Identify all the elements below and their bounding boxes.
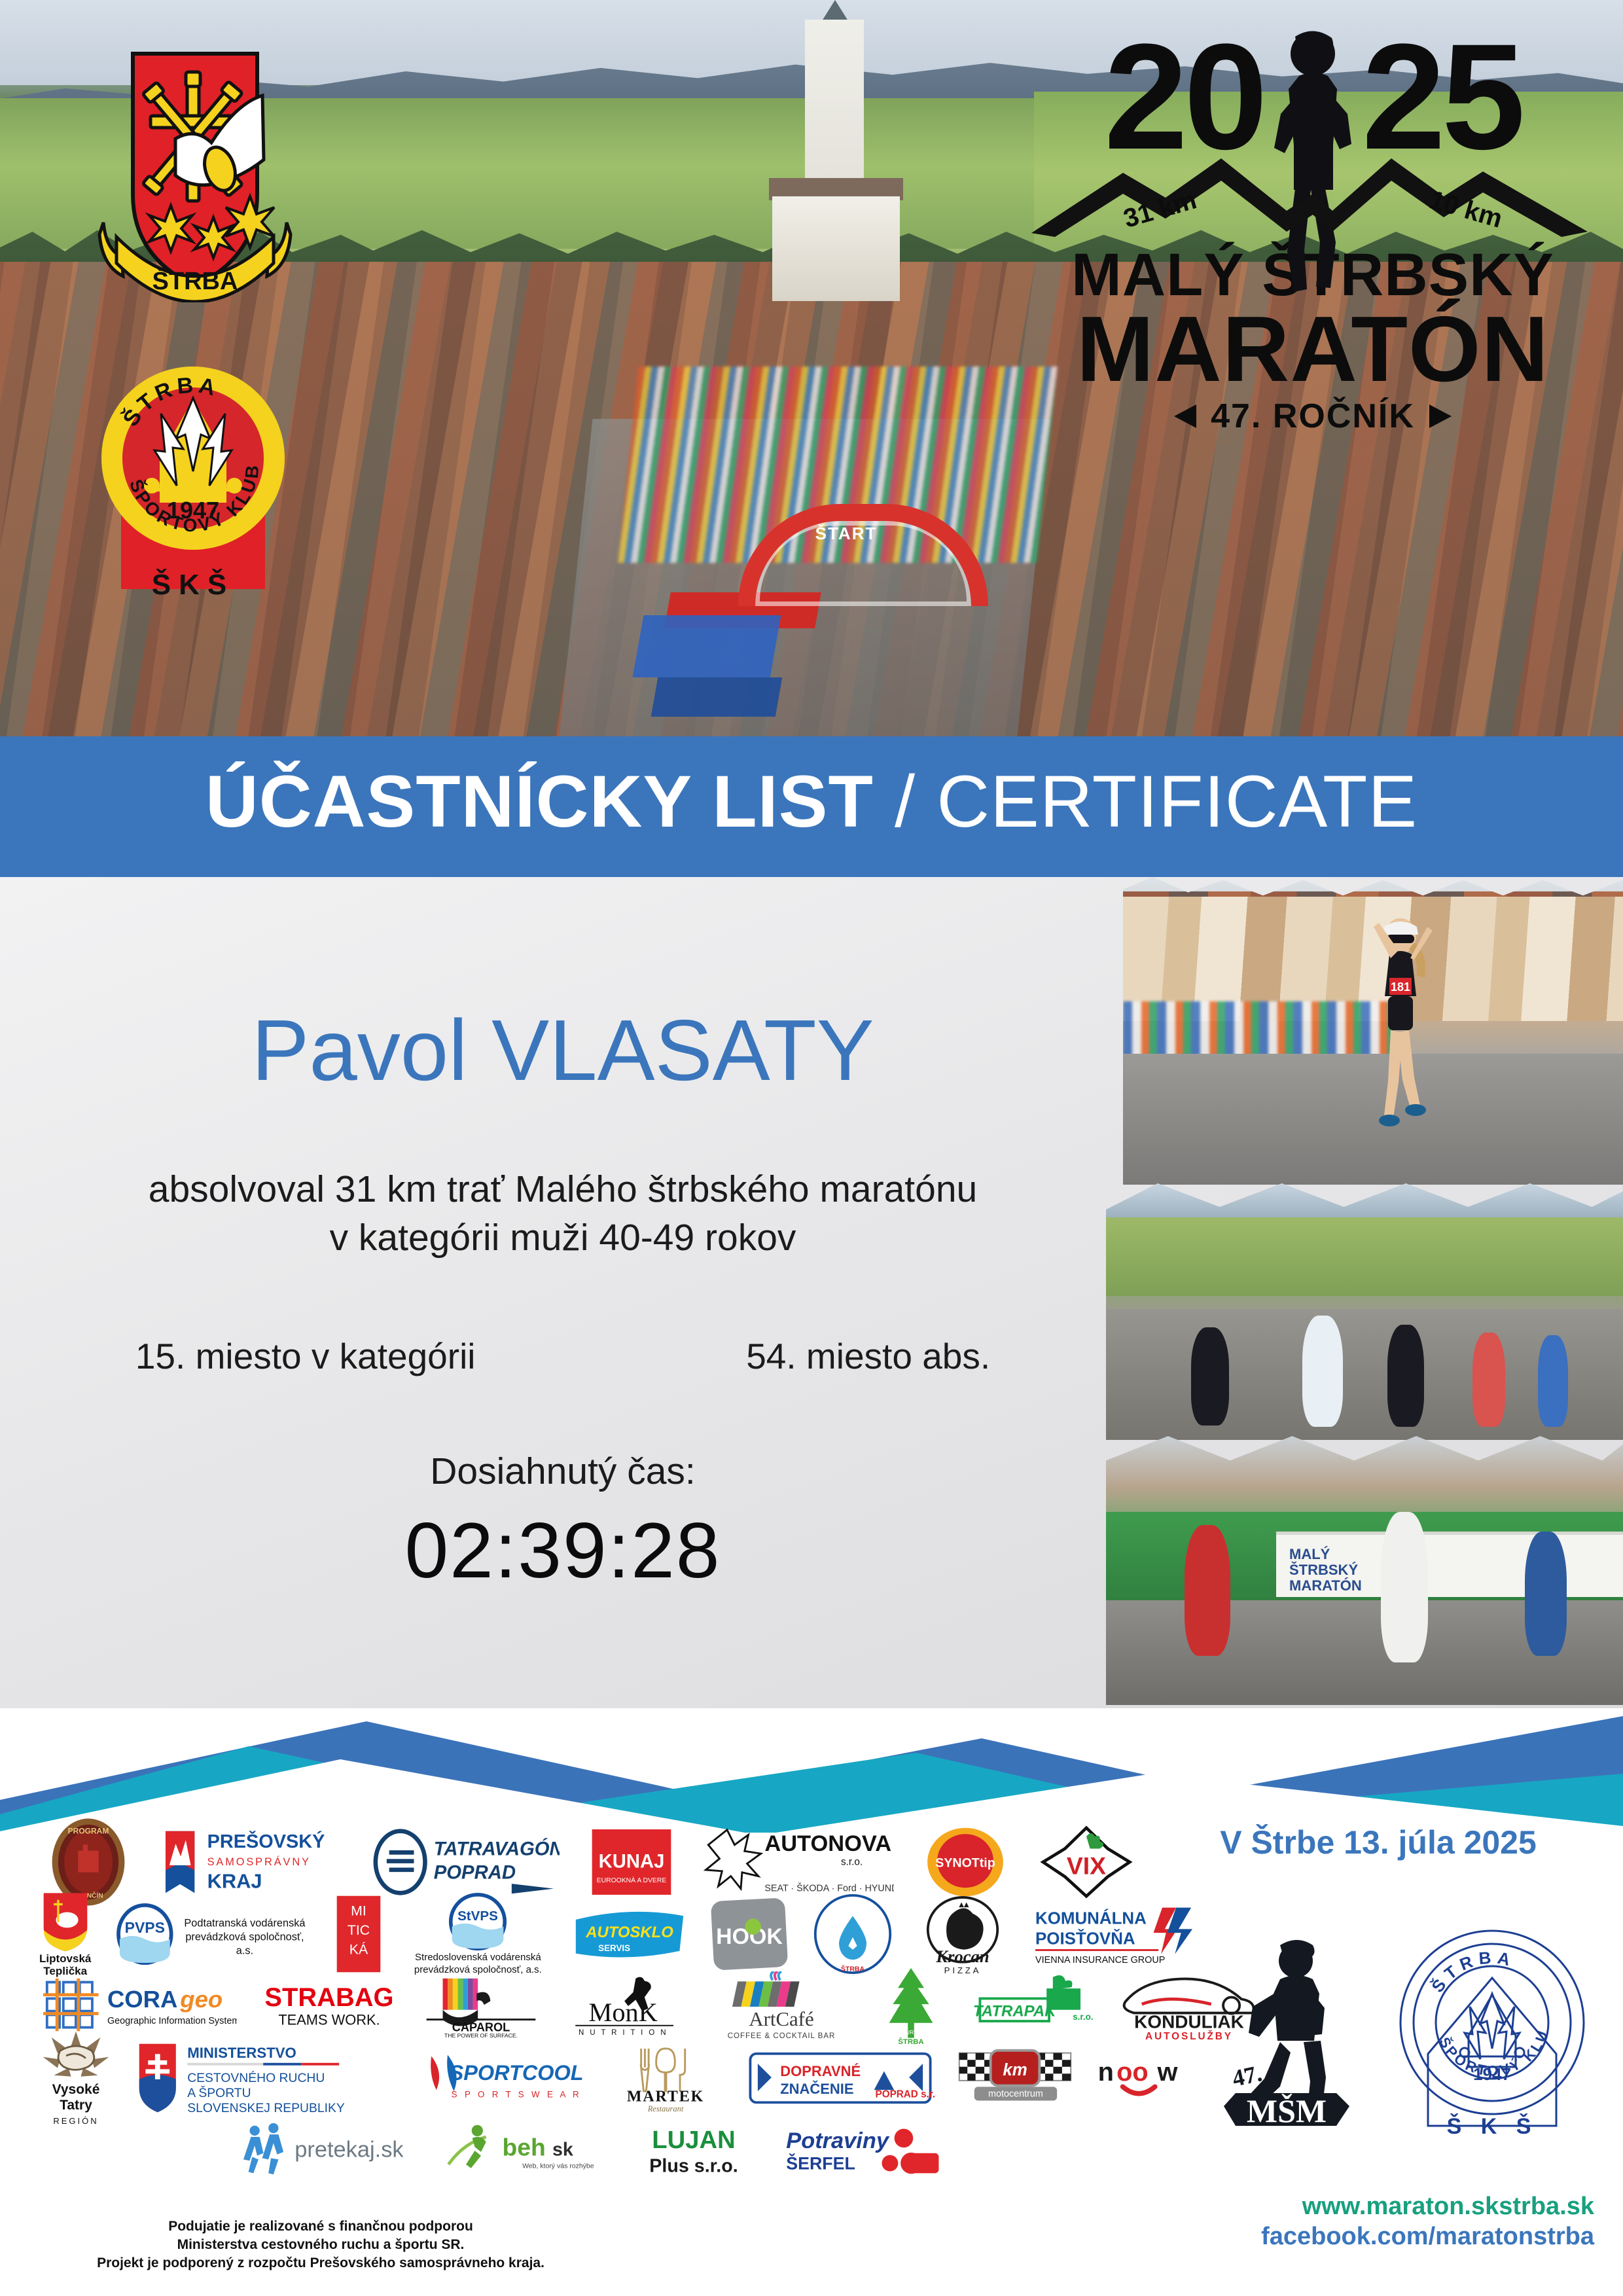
race-edition: 47. ROČNÍK xyxy=(1025,397,1601,436)
finisher-runner xyxy=(1381,1512,1428,1662)
sponsor-vysoke-tatry-region[interactable]: Vysoké Tatry REGIÓN xyxy=(39,2028,113,2128)
svg-text:TATRAPAK: TATRAPAK xyxy=(973,2002,1057,2020)
sponsor-presovsky-kraj[interactable]: PREŠOVSKÝ SAMOSPRÁVNY KRAJ xyxy=(157,1827,347,1897)
kunaj-icon: KUNAJ EUROOKNÁ A DVERE xyxy=(588,1828,675,1896)
photo-race-banner: MALÝ ŠTRBSKÝ MARATÓN xyxy=(1276,1532,1623,1597)
sponsor-caparol[interactable]: CAPAROL THE POWER OF SURFACE. xyxy=(421,1975,541,2037)
banner-title: ÚČASTNÍCKY LIST / CERTIFICATE xyxy=(0,746,1623,857)
svg-text:LUJAN: LUJAN xyxy=(652,2126,735,2154)
mountain-distance-row: 31 km 10 km xyxy=(1025,154,1601,240)
runner-mini-1 xyxy=(1191,1327,1229,1426)
pd-strba-icon: ŠTRBA xyxy=(812,1893,893,1975)
sponsor-row: pretekaj.sk beh sk Web, ktorý vás rozhýb… xyxy=(39,2114,1152,2186)
funding-disclaimer: Podujatie je realizované s finančnou pod… xyxy=(52,2217,589,2272)
sponsor-ps-urbar-strba[interactable]: PS URBÁR ŠTRBA xyxy=(870,1965,952,2047)
sponsor-ministerstvo[interactable]: MINISTERSTVO CESTOVNÉHO RUCHU A ŠPORTU S… xyxy=(132,2040,402,2116)
svg-text:DOPRAVNÉ: DOPRAVNÉ xyxy=(780,2063,861,2079)
disclaimer-line-2: Ministerstva cestovného ruchu a športu S… xyxy=(52,2236,589,2254)
photo-banner-line2: ŠTRBSKÝ xyxy=(1289,1562,1362,1578)
lujan-plus-icon: LUJAN Plus s.r.o. xyxy=(631,2122,757,2178)
svg-text:KOMUNÁLNA: KOMUNÁLNA xyxy=(1035,1909,1147,1928)
krocan-pizza-icon: Krocan PIZZA xyxy=(913,1893,1012,1975)
race-name-line2: MARATÓN xyxy=(1025,306,1601,393)
svg-text:StVPS: StVPS xyxy=(457,1909,498,1924)
svg-text:SAMOSPRÁVNY: SAMOSPRÁVNY xyxy=(207,1856,311,1868)
svg-text:motocentrum: motocentrum xyxy=(988,2089,1043,2100)
placement-row: 15. miesto v kategórii 54. miesto abs. xyxy=(0,1335,1126,1377)
svg-text:THE POWER OF SURFACE.: THE POWER OF SURFACE. xyxy=(444,2032,518,2037)
svg-text:PROGRAM: PROGRAM xyxy=(68,1827,109,1836)
sponsor-potraviny-serfel[interactable]: Potraviny ŠERFEL xyxy=(779,2122,942,2178)
svg-text:MI: MI xyxy=(351,1903,367,1918)
svg-text:ZNAČENIE: ZNAČENIE xyxy=(780,2081,853,2097)
sponsor-noow[interactable]: n oo w xyxy=(1094,2053,1187,2103)
pretekaj-sk-icon: pretekaj.sk xyxy=(238,2122,416,2178)
svg-text:Krocan: Krocan xyxy=(936,1946,990,1966)
svg-text:KÁ: KÁ xyxy=(349,1941,368,1958)
svg-text:A ŠPORTU: A ŠPORTU xyxy=(187,2085,251,2100)
svg-text:KRAJ: KRAJ xyxy=(207,1870,262,1893)
crest-banner-text: ŠTRBA xyxy=(152,266,238,295)
banner-title-sep: / xyxy=(874,761,936,842)
ministerstvo-icon: MINISTERSTVO CESTOVNÉHO RUCHU A ŠPORTU S… xyxy=(132,2040,402,2116)
sponsor-row: PROGRAM TRENČÍN PREŠOVSKÝ SAMOSPRÁVNY KR… xyxy=(39,1826,1152,1898)
svg-text:ŠTRBA: ŠTRBA xyxy=(1427,1947,1517,1996)
description-line-2: v kategórii muži 40-49 rokov xyxy=(0,1213,1126,1262)
svg-text:beh: beh xyxy=(503,2134,546,2161)
time-label: Dosiahnutý čas: xyxy=(0,1450,1126,1493)
sponsor-vix[interactable]: VIX xyxy=(1034,1825,1139,1899)
svg-text:MARTEK: MARTEK xyxy=(627,2088,704,2105)
miticka-icon: MI TIC KÁ xyxy=(334,1893,383,1975)
svg-text:SERVIS: SERVIS xyxy=(599,1943,631,1953)
start-arch-label: ŠTART xyxy=(776,524,917,544)
sponsor-stvps[interactable]: StVPS Stredoslovenská vodárenská prevádz… xyxy=(402,1892,553,1976)
sponsor-tatrapak[interactable]: TATRAPAK s.r.o. xyxy=(971,1975,1097,2037)
certificate-date: V Štrbe 13. júla 2025 xyxy=(1162,1823,1594,1861)
svg-text:Geographic Information Systems: Geographic Information Systems xyxy=(107,2016,237,2026)
svg-text:SPORTCOOL: SPORTCOOL xyxy=(450,2061,584,2085)
website-url[interactable]: www.maraton.skstrba.sk xyxy=(1136,2191,1594,2221)
dopravne-znacenie-icon: DOPRAVNÉ ZNAČENIE POPRAD s.r.o. xyxy=(745,2050,936,2106)
svg-text:MINISTERSTVO: MINISTERSTVO xyxy=(187,2045,296,2061)
mountain-outline-icon xyxy=(1025,154,1601,240)
runner-mini-2 xyxy=(1302,1316,1343,1427)
sponsor-km-motocentrum[interactable]: km motocentrum xyxy=(955,2047,1075,2109)
svg-text:TIC: TIC xyxy=(348,1922,370,1938)
svg-text:KUNAJ: KUNAJ xyxy=(599,1851,665,1872)
svg-text:EUROOKNÁ A DVERE: EUROOKNÁ A DVERE xyxy=(597,1876,667,1884)
autonova-icon: AUTONOVA s.r.o. SEAT · ŠKODA · Ford · HY… xyxy=(703,1826,894,1898)
church-nave xyxy=(772,196,900,301)
sks-strba-club-logo-icon: 1947 ŠTRBA ŠPORTOVÝ KLUB ŠKŠ xyxy=(98,327,288,602)
svg-text:MŠM: MŠM xyxy=(1247,2092,1327,2129)
strba-coat-of-arms-icon: ŠTRBA xyxy=(97,41,293,302)
folk-costume-1 xyxy=(1185,1525,1230,1656)
arrow-left-icon xyxy=(1174,404,1196,428)
sponsor-sportcool[interactable]: SPORTCOOL S P O R T S W E A R xyxy=(421,2050,586,2106)
svg-text:Plus s.r.o.: Plus s.r.o. xyxy=(649,2155,738,2176)
sponsor-row: LiptovskáTeplička PVPS Podtatranská vodá… xyxy=(39,1898,1152,1970)
svg-text:n: n xyxy=(1098,2058,1114,2087)
disclaimer-line-3: Projekt je podporený z rozpočtu Prešovsk… xyxy=(52,2254,589,2272)
sponsor-komunalna-poistovna[interactable]: KOMUNÁLNA POISŤOVŇA VIENNA INSURANCE GRO… xyxy=(1032,1903,1197,1965)
svg-text:AUTOSKLO: AUTOSKLO xyxy=(586,1924,674,1941)
finisher-bib-number: 181 xyxy=(1391,980,1410,994)
vysoke-tatry-label: Vysoké Tatry REGIÓN xyxy=(39,2083,113,2128)
svg-text:sk: sk xyxy=(552,2140,573,2161)
runner-mini-4 xyxy=(1472,1333,1505,1427)
place-absolute: 54. miesto abs. xyxy=(746,1335,990,1377)
description-line-1: absolvoval 31 km trať Malého štrbského m… xyxy=(0,1165,1126,1213)
certificate-description: absolvoval 31 km trať Malého štrbského m… xyxy=(0,1165,1126,1262)
svg-text:ŠTRBA: ŠTRBA xyxy=(898,2037,923,2046)
stvps-icon: StVPS xyxy=(444,1892,512,1951)
tatrapak-icon: TATRAPAK s.r.o. xyxy=(971,1975,1097,2037)
banner-title-main: ÚČASTNÍCKY LIST xyxy=(205,761,874,842)
svg-text:oo: oo xyxy=(1116,2058,1149,2087)
komunalna-poistovna-icon: KOMUNÁLNA POISŤOVŇA VIENNA INSURANCE GRO… xyxy=(1032,1903,1197,1965)
svg-text:Š K Š: Š K Š xyxy=(1447,2113,1538,2139)
sponsor-krocan-pizza[interactable]: Krocan PIZZA xyxy=(913,1893,1012,1975)
sponsor-beh-sk[interactable]: beh sk Web, ktorý vás rozhýbe xyxy=(438,2122,609,2178)
caparol-icon: CAPAROL THE POWER OF SURFACE. xyxy=(421,1975,541,2037)
svg-text:PVPS: PVPS xyxy=(125,1919,165,1936)
svg-text:geo: geo xyxy=(179,1986,223,2013)
presovsky-kraj-icon: PREŠOVSKÝ SAMOSPRÁVNY KRAJ xyxy=(160,1827,344,1897)
banner-title-alt: CERTIFICATE xyxy=(936,761,1418,842)
race-edition-text: 47. ROČNÍK xyxy=(1211,397,1415,436)
time-value: 02:39:28 xyxy=(0,1505,1126,1596)
monk-nutrition-icon: MonK N U T R I T I O N xyxy=(560,1975,692,2037)
sponsor-kunaj[interactable]: KUNAJ EUROOKNÁ A DVERE xyxy=(582,1828,681,1896)
svg-text:COFFEE & COCKTAIL BAR: COFFEE & COCKTAIL BAR xyxy=(728,2032,836,2040)
sponsor-lujan-plus[interactable]: LUJAN Plus s.r.o. xyxy=(628,2122,759,2178)
svg-text:ArtCafé: ArtCafé xyxy=(749,2008,813,2030)
svg-text:Restaurant: Restaurant xyxy=(647,2104,684,2113)
svg-text:POISŤOVŇA: POISŤOVŇA xyxy=(1035,1928,1135,1948)
svg-text:N U T R I T I O N: N U T R I T I O N xyxy=(579,2029,668,2037)
sponsor-strabag[interactable]: STRABAG TEAMS WORK. xyxy=(257,1981,402,2031)
svg-text:SLOVENSKEJ REPUBLIKY: SLOVENSKEJ REPUBLIKY xyxy=(187,2102,345,2115)
female-finisher-icon: 181 xyxy=(1358,910,1443,1139)
svg-text:SEAT · ŠKODA · Ford · HYUNDAI: SEAT · ŠKODA · Ford · HYUNDAI xyxy=(764,1882,894,1893)
sponsor-autonova[interactable]: AUTONOVA s.r.o. SEAT · ŠKODA · Ford · HY… xyxy=(700,1826,897,1898)
martek-icon: MARTEK Restaurant xyxy=(606,2043,725,2113)
photo-banner-text: MALÝ ŠTRBSKÝ MARATÓN xyxy=(1289,1547,1362,1594)
arrow-right-icon xyxy=(1429,404,1452,428)
sponsor-tatravagonka-poprad[interactable]: TATRAVAGÓNKA POPRAD xyxy=(366,1828,563,1896)
msm-logo-icon: 47. MŠM xyxy=(1204,1918,1368,2140)
club-bottom-text: ŠKŠ xyxy=(152,567,234,601)
potraviny-serfel-icon: Potraviny ŠERFEL xyxy=(781,2122,940,2178)
photo-banner-line1: MALÝ xyxy=(1289,1547,1362,1562)
tatravagonka-icon: TATRAVAGÓNKA POPRAD xyxy=(370,1828,560,1896)
svg-text:VIX: VIX xyxy=(1067,1852,1106,1880)
sponsor-hook[interactable]: HOOK xyxy=(706,1897,793,1971)
svg-text:S P O R T S W E A R: S P O R T S W E A R xyxy=(452,2090,582,2100)
sks-stamp-icon: 1947 ŠTRBA ŠPORTOVÝ KLUB Š K Š xyxy=(1394,1918,1590,2140)
noow-icon: n oo w xyxy=(1094,2053,1187,2103)
vysoke-tatry-icon xyxy=(39,2028,113,2083)
facebook-url[interactable]: facebook.com/maratonstrba xyxy=(1136,2221,1594,2251)
beh-sk-icon: beh sk Web, ktorý vás rozhýbe xyxy=(441,2122,606,2178)
svg-text:TATRAVAGÓNKA: TATRAVAGÓNKA xyxy=(434,1838,560,1860)
svg-text:STRABAG: STRABAG xyxy=(264,1983,393,2012)
sponsor-pvps[interactable]: PVPS Podtatranská vodárenská prevádzková… xyxy=(111,1903,315,1965)
svg-text:POPRAD: POPRAD xyxy=(434,1862,516,1884)
footer-links: www.maraton.skstrba.sk facebook.com/mara… xyxy=(1136,2191,1594,2251)
certificate-page: ŠTART ŠTRBA xyxy=(0,0,1623,2296)
synottip-icon: SYNOTtip xyxy=(922,1825,1008,1899)
blue-tent-1 xyxy=(633,615,781,677)
photo-runners-hill xyxy=(1106,1178,1623,1440)
ps-urbar-strba-icon: PS URBÁR ŠTRBA xyxy=(870,1965,952,2047)
strabag-icon: STRABAG TEAMS WORK. xyxy=(257,1981,402,2031)
sponsor-miticka[interactable]: MI TIC KÁ xyxy=(334,1893,383,1975)
photo-collage: 181 MALÝ ŠTRBSKÝ xyxy=(1106,877,1623,1705)
km-motocentrum-icon: km motocentrum xyxy=(955,2047,1075,2109)
athlete-name: Pavol VLASATY xyxy=(0,1001,1126,1100)
sponsor-artcafe[interactable]: ArtCafé COFFEE & COCKTAIL BAR xyxy=(712,1971,851,2041)
svg-text:Web, ktorý vás rozhýbe: Web, ktorý vás rozhýbe xyxy=(522,2162,594,2170)
sponsor-row: CORA geo Geographic Information Systems … xyxy=(39,1970,1152,2042)
svg-text:CESTOVNÉHO RUCHU: CESTOVNÉHO RUCHU xyxy=(187,2070,325,2085)
photo-finish-line: MALÝ ŠTRBSKÝ MARATÓN xyxy=(1106,1433,1623,1705)
liptovska-teplicka-icon xyxy=(40,1891,91,1952)
svg-text:CORA: CORA xyxy=(107,1986,177,2013)
sponsor-autosklo-servis[interactable]: AUTOSKLO SERVIS xyxy=(573,1906,687,1962)
svg-text:s.r.o.: s.r.o. xyxy=(1073,2012,1093,2022)
sponsor-liptovska-teplicka[interactable]: LiptovskáTeplička xyxy=(39,1891,91,1977)
photo-banner-line3: MARATÓN xyxy=(1289,1578,1362,1594)
svg-text:SYNOTtip: SYNOTtip xyxy=(935,1856,995,1870)
svg-text:AUTONOVA: AUTONOVA xyxy=(764,1831,891,1856)
pvps-icon: PVPS Podtatranská vodárenská prevádzková… xyxy=(111,1903,315,1965)
svg-text:MonK: MonK xyxy=(589,1998,658,2027)
folk-costume-2 xyxy=(1525,1532,1567,1656)
sponsor-martek-restaurant[interactable]: MARTEK Restaurant xyxy=(606,2043,725,2113)
svg-text:km: km xyxy=(1003,2061,1027,2079)
svg-text:POPRAD s.r.o.: POPRAD s.r.o. xyxy=(876,2089,936,2100)
sponsor-synottip[interactable]: SYNOTtip xyxy=(916,1825,1014,1899)
runner-mini-3 xyxy=(1387,1325,1424,1427)
svg-text:w: w xyxy=(1157,2058,1178,2087)
svg-text:TEAMS WORK.: TEAMS WORK. xyxy=(278,2012,380,2028)
svg-text:Potraviny: Potraviny xyxy=(786,2128,890,2153)
race-year: 2025 xyxy=(1025,31,1601,162)
sportcool-icon: SPORTCOOL S P O R T S W E A R xyxy=(421,2050,586,2106)
hook-icon: HOOK xyxy=(706,1897,793,1971)
blue-tent-2 xyxy=(651,677,783,717)
photo-finisher: 181 xyxy=(1123,877,1623,1185)
vix-icon: VIX xyxy=(1040,1825,1133,1899)
liptovska-teplicka-label: LiptovskáTeplička xyxy=(39,1952,91,1977)
svg-text:ŠERFEL: ŠERFEL xyxy=(786,2153,855,2174)
sponsor-row: Vysoké Tatry REGIÓN MINISTERSTVO CESTOVN… xyxy=(39,2042,1152,2114)
sponsor-pretekaj-sk[interactable]: pretekaj.sk xyxy=(236,2122,419,2178)
svg-text:pretekaj.sk: pretekaj.sk xyxy=(294,2138,404,2162)
sponsor-pd-strba[interactable]: ŠTRBA xyxy=(812,1893,893,1975)
stvps-label: Stredoslovenská vodárenská prevádzková s… xyxy=(402,1951,553,1976)
svg-text:PS URBÁR: PS URBÁR xyxy=(897,2029,925,2036)
autosklo-servis-icon: AUTOSKLO SERVIS xyxy=(573,1906,687,1962)
artcafe-icon: ArtCafé COFFEE & COCKTAIL BAR xyxy=(712,1971,851,2041)
runner-mini-5 xyxy=(1538,1335,1568,1427)
sponsor-monk-nutrition[interactable]: MonK N U T R I T I O N xyxy=(560,1975,692,2037)
race-title-block: 2025 31 km 10 km MALÝ ŠTRBSKÝ MARATÓN 47… xyxy=(1025,31,1601,581)
svg-text:s.r.o.: s.r.o. xyxy=(841,1856,863,1867)
photo-grass xyxy=(1106,1217,1623,1296)
svg-text:VIENNA INSURANCE GROUP: VIENNA INSURANCE GROUP xyxy=(1035,1955,1165,1965)
sponsor-grid: PROGRAM TRENČÍN PREŠOVSKÝ SAMOSPRÁVNY KR… xyxy=(39,1826,1152,2186)
svg-text:PREŠOVSKÝ: PREŠOVSKÝ xyxy=(207,1830,325,1852)
disclaimer-line-1: Podujatie je realizované s finančnou pod… xyxy=(52,2217,589,2236)
sponsor-dopravne-znacenie[interactable]: DOPRAVNÉ ZNAČENIE POPRAD s.r.o. xyxy=(745,2050,936,2106)
place-in-category: 15. miesto v kategórii xyxy=(135,1335,476,1377)
